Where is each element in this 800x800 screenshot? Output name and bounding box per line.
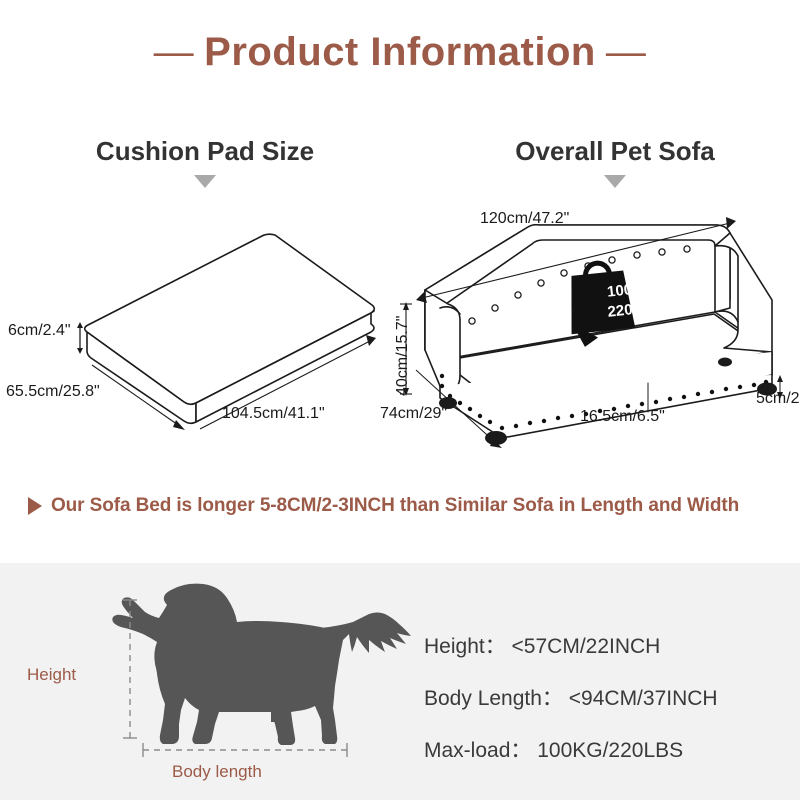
promo-banner: Our Sofa Bed is longer 5-8CM/2-3INCH tha… — [28, 495, 788, 517]
pet-sofa-diagram: 120cm/47.2" 40cm/15.7" 74cm/29" 16.5cm/6… — [380, 200, 800, 450]
spec-value-body-length: <94CM/37INCH — [569, 687, 718, 710]
spec-value-height: <57CM/22INCH — [512, 635, 661, 658]
spec-label-max-load: Max-load： — [424, 739, 531, 762]
spec-row: Height： <57CM/22INCH — [424, 630, 718, 660]
spec-label-height: Height： — [424, 635, 506, 658]
body-length-measure-label: Body length — [172, 762, 262, 782]
spec-row: Max-load： 100KG/220LBS — [424, 734, 718, 764]
page-title: —Product Information— — [0, 30, 800, 75]
dog-measurement-diagram — [85, 578, 415, 788]
section-heading-cushion: Cushion Pad Size — [45, 136, 365, 188]
sofa-depth-label: 74cm/29" — [380, 405, 447, 423]
title-text: Product Information — [204, 30, 596, 74]
triangle-down-icon — [194, 175, 216, 188]
spec-label-body-length: Body Length： — [424, 687, 563, 710]
body-length-measure-line — [143, 743, 347, 757]
dog-spec-list: Height： <57CM/22INCH Body Length： <94CM/… — [424, 630, 718, 786]
spec-row: Body Length： <94CM/37INCH — [424, 682, 718, 712]
section-heading-sofa: Overall Pet Sofa — [455, 136, 775, 188]
title-dash-left: — — [144, 30, 205, 75]
spec-value-max-load: 100KG/220LBS — [537, 739, 683, 762]
cushion-pad-diagram: 6cm/2.4" 65.5cm/25.8" 104.5cm/41.1" — [0, 205, 400, 445]
promo-banner-text: Our Sofa Bed is longer 5-8CM/2-3INCH tha… — [51, 495, 739, 517]
title-dash-right: — — [596, 30, 657, 75]
cushion-heading-label: Cushion Pad Size — [45, 136, 365, 167]
sofa-width-label: 120cm/47.2" — [480, 210, 569, 228]
sofa-seat-height-label: 16.5cm/6.5" — [580, 408, 665, 426]
cushion-length-label: 104.5cm/41.1" — [222, 405, 325, 423]
cushion-thickness-label: 6cm/2.4" — [8, 322, 71, 340]
height-measure-label: Height — [27, 665, 76, 685]
sofa-leg-height-label: 5cm/2" — [756, 390, 800, 408]
sofa-height-label: 40cm/15.7" — [394, 316, 412, 396]
dog-silhouette-icon — [85, 578, 415, 788]
cushion-depth-label: 65.5cm/25.8" — [6, 383, 100, 401]
triangle-down-icon — [604, 175, 626, 188]
sofa-heading-label: Overall Pet Sofa — [455, 136, 775, 167]
triangle-right-icon — [28, 497, 42, 515]
